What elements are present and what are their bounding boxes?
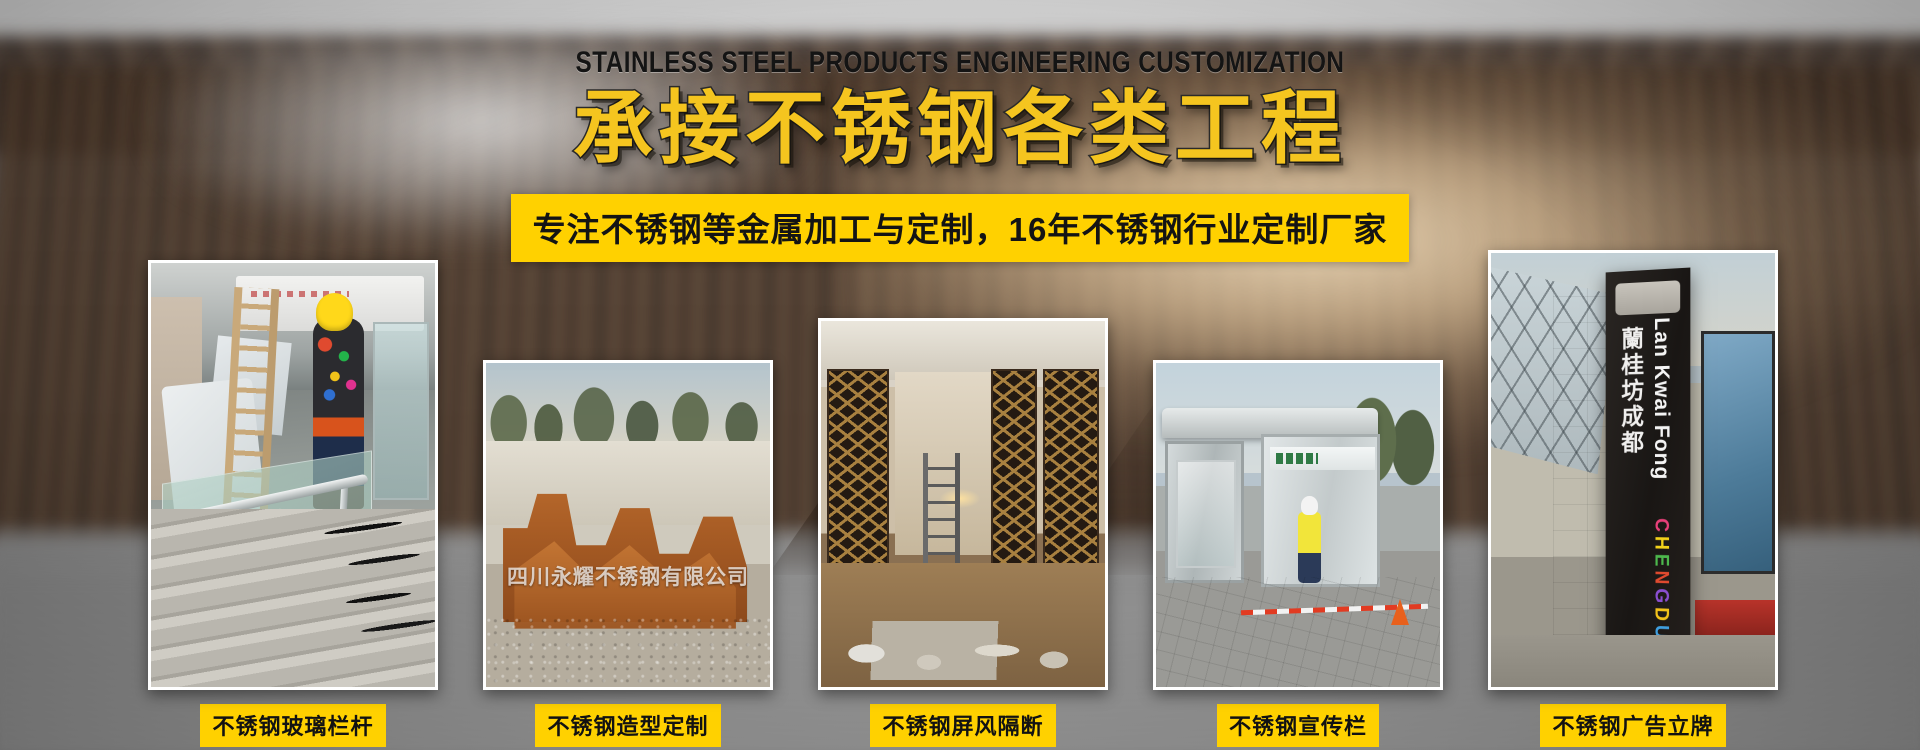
photo-frame-5: 蘭桂坊成都 Lan Kwai Fong CHENGDU: [1488, 250, 1778, 690]
photo-frame-1: [148, 260, 438, 690]
photo-bulletin-board: [1156, 363, 1440, 687]
photo-glass-railing: [151, 263, 435, 687]
gallery-item-3[interactable]: 不锈钢屏风隔断: [818, 318, 1108, 747]
english-tagline: STAINLESS STEEL PRODUCTS ENGINEERING CUS…: [29, 46, 1891, 80]
photo-frame-2: 四川永耀不锈钢有限公司: [483, 360, 773, 690]
gallery-caption-1: 不锈钢玻璃栏杆: [200, 704, 385, 747]
gallery-caption-3: 不锈钢屏风隔断: [870, 704, 1055, 747]
gallery-caption-4: 不锈钢宣传栏: [1217, 704, 1379, 747]
photo-corten-sculpture: 四川永耀不锈钢有限公司: [486, 363, 770, 687]
gallery-caption-2: 不锈钢造型定制: [535, 704, 720, 747]
pylon-english-text: Lan Kwai Fong: [1647, 317, 1673, 526]
photo-frame-4: [1153, 360, 1443, 690]
gallery-item-4[interactable]: 不锈钢宣传栏: [1153, 360, 1443, 747]
product-gallery: 不锈钢玻璃栏杆 四川永耀不锈钢有限公司 不锈钢造型定制: [0, 250, 1920, 750]
headline-block: STAINLESS STEEL PRODUCTS ENGINEERING CUS…: [0, 46, 1920, 262]
photo-watermark: 四川永耀不锈钢有限公司: [507, 561, 749, 591]
gallery-item-5[interactable]: 蘭桂坊成都 Lan Kwai Fong CHENGDU 不锈钢广告立牌: [1488, 250, 1778, 747]
subtitle-badge: 专注不锈钢等金属加工与定制，16年不锈钢行业定制厂家: [511, 194, 1410, 262]
page-title: 承接不锈钢各类工程: [0, 87, 1920, 172]
pylon-chinese-text: 蘭桂坊成都: [1614, 326, 1643, 597]
hard-hat-icon: [316, 293, 353, 331]
gallery-item-1[interactable]: 不锈钢玻璃栏杆: [148, 260, 438, 747]
photo-advertising-pylon: 蘭桂坊成都 Lan Kwai Fong CHENGDU: [1491, 253, 1775, 687]
gallery-item-2[interactable]: 四川永耀不锈钢有限公司 不锈钢造型定制: [483, 360, 773, 747]
photo-frame-3: [818, 318, 1108, 690]
photo-screen-partition: [821, 321, 1105, 687]
promo-banner: STAINLESS STEEL PRODUCTS ENGINEERING CUS…: [0, 0, 1920, 750]
gallery-caption-5: 不锈钢广告立牌: [1540, 704, 1725, 747]
